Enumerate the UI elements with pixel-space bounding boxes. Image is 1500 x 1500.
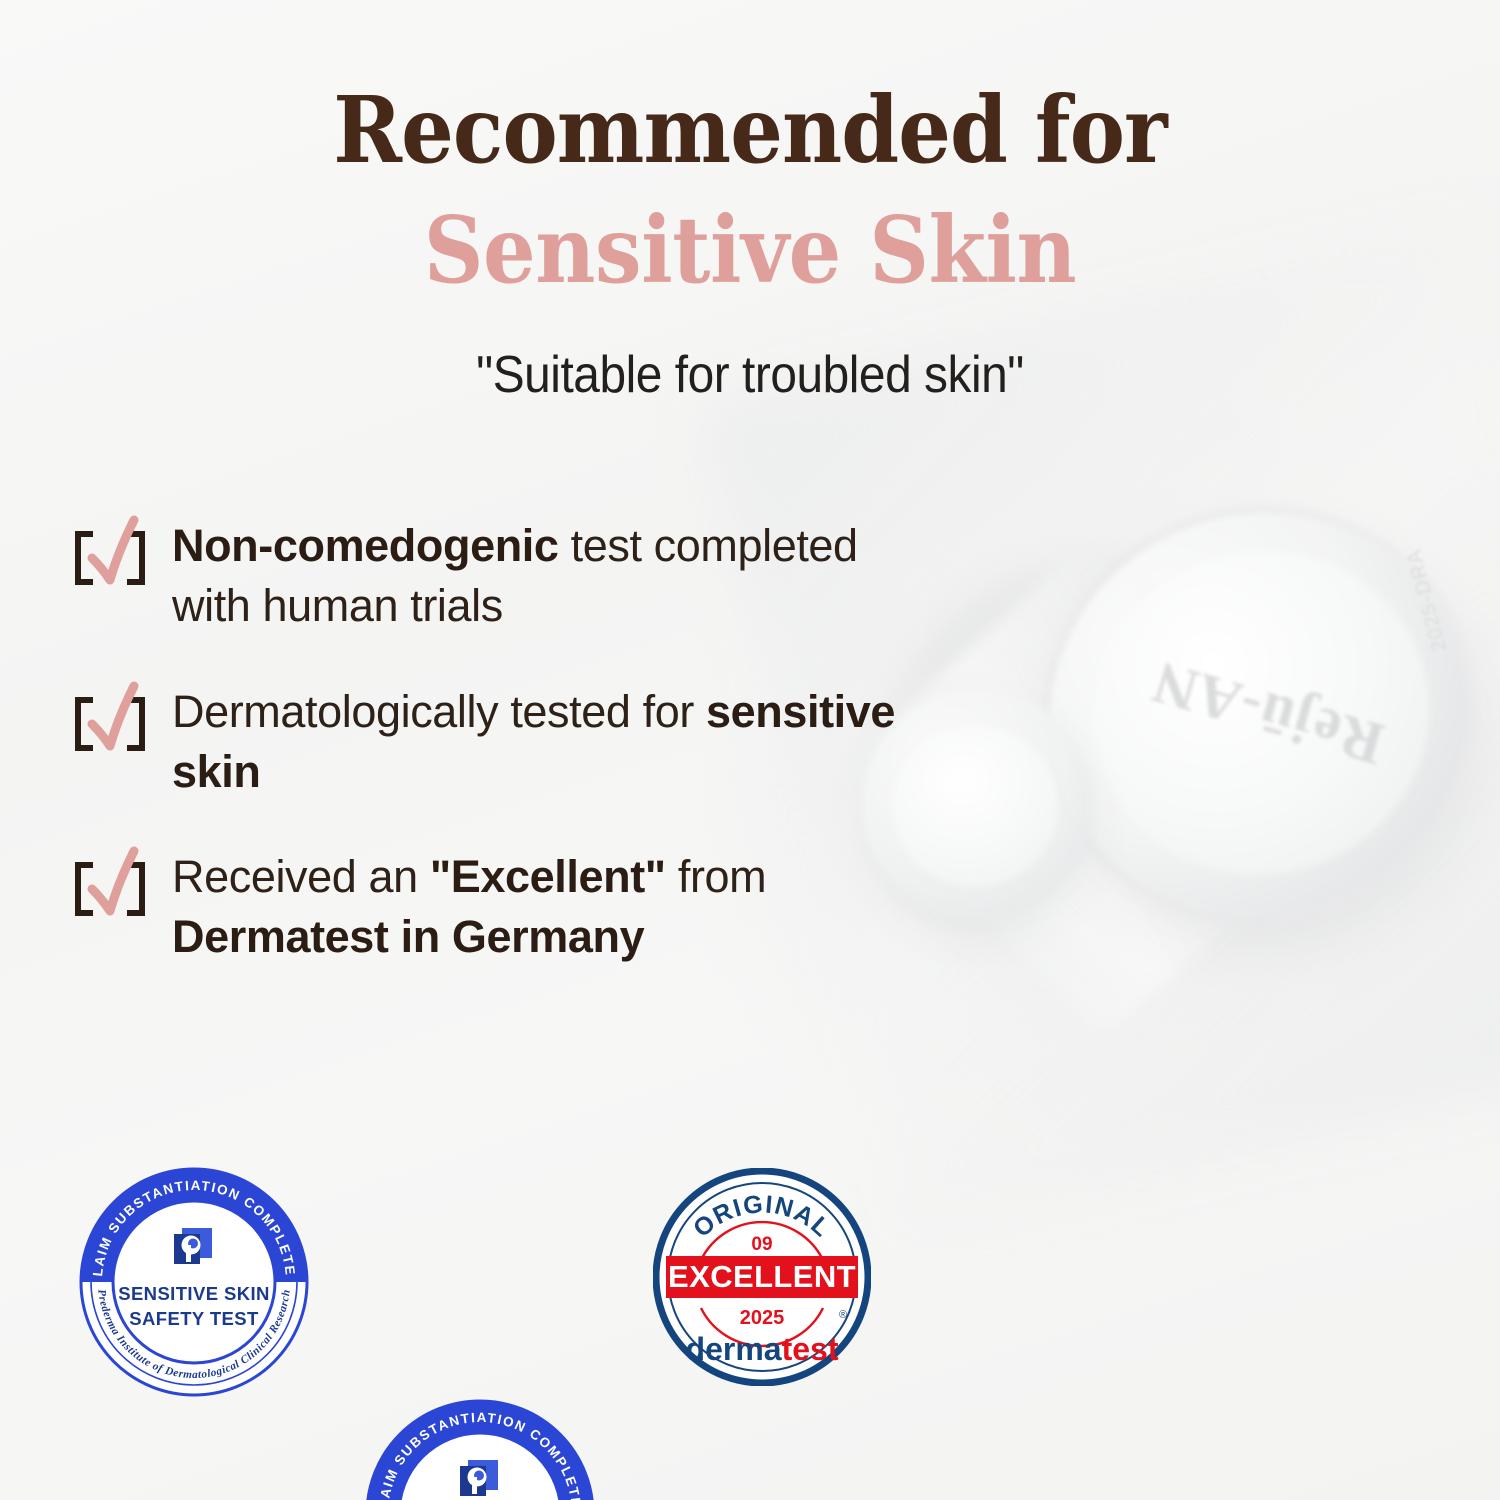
registered-mark: ® [839,1309,847,1321]
list-item: Non-comedogenic test completed with huma… [72,516,932,636]
badge-center-line-1: SENSITIVE SKIN [118,1283,270,1304]
dermatest-brand: dermatest [686,1331,839,1367]
list-item-text: Received an "Excellent" from Dermatest i… [172,847,932,967]
subheadline: "Suitable for troubled skin" [60,345,1440,405]
headline-block: Recommended for Sensitive Skin [0,84,1500,296]
list-item: Dermatologically tested for sensitive sk… [72,682,932,802]
list-item-text: Non-comedogenic test completed with huma… [172,516,932,636]
badge-dermatest-excellent: ORIGINAL 09 EXCELLENT 2025 dermatest ® [653,1168,871,1386]
checkbox-checked-icon [72,690,148,752]
list-item-text-normal: from [666,851,767,902]
list-item-text-normal: Dermatologically tested for [172,686,706,737]
list-item: Received an "Excellent" from Dermatest i… [72,847,932,967]
product-jar-large-lid [1056,514,1466,913]
list-item-text-bold: Non-comedogenic [172,520,559,571]
dermatest-rating: EXCELLENT [668,1259,856,1294]
dermatest-brand-part2: test [782,1331,839,1367]
product-shadow [880,560,1310,990]
product-jar-large [1005,467,1500,962]
headline-line-1: Recommended for [75,84,1425,176]
product-brand-text: Rejū-AN [1089,551,1446,874]
checkbox-checked-icon [72,855,148,917]
badge-sensitive-skin-safety-test: CLAIM SUBSTANTIATION COMPLETED Prederma … [78,1166,310,1398]
product-code-text: 2025-DRA [1383,503,1471,697]
list-item-text-bold: "Excellent" [430,851,666,902]
promotional-graphic: Rejū-AN 2025-DRA Recommended for Sensiti… [0,0,1500,1500]
badge-center-line-2: SAFETY TEST [129,1308,259,1329]
list-item-text-bold: Dermatest in Germany [172,911,644,962]
list-item-text: Dermatologically tested for sensitive sk… [172,682,932,802]
list-item-text-normal: Received an [172,851,430,902]
dermatest-brand-part1: derma [686,1331,782,1367]
dermatest-month: 09 [751,1234,772,1255]
headline-line-2: Sensitive Skin [75,204,1425,296]
dermatest-year: 2025 [740,1307,785,1329]
badge-non-comedogenic-test: CLAIM SUBSTANTIATION COMPLETED Prederma … [364,1398,596,1500]
checkbox-checked-icon [72,524,148,586]
benefits-list: Non-comedogenic test completed with huma… [72,516,932,1013]
